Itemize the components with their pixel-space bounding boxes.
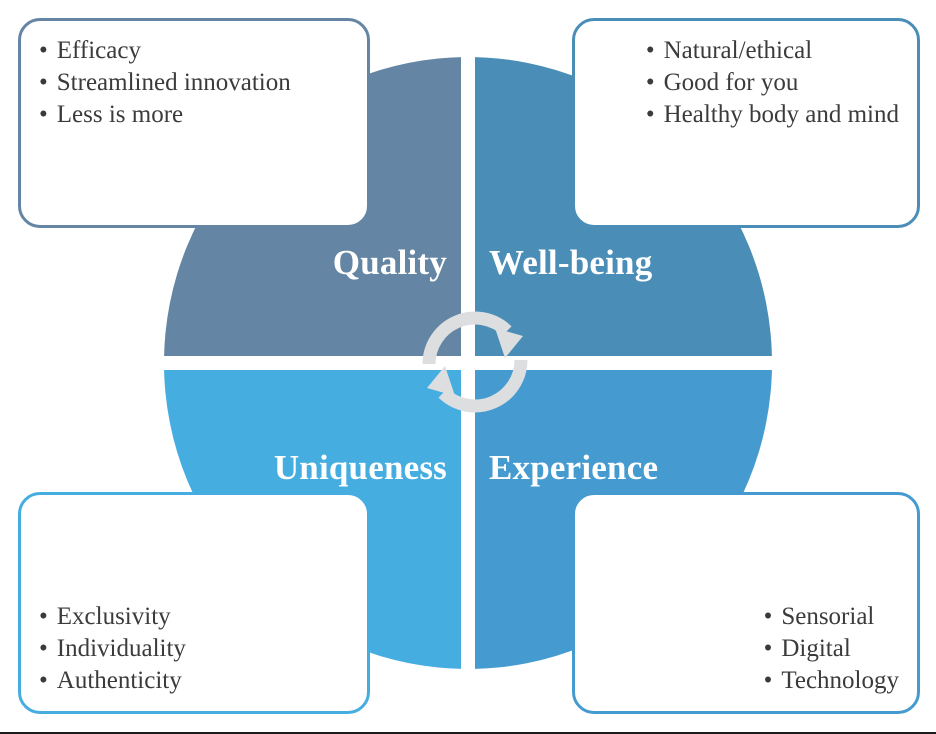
bullet-icon: • xyxy=(39,665,48,696)
quadrant-quality-label: Quality xyxy=(333,243,447,283)
list-item: • Efficacy xyxy=(39,35,349,66)
callout-experience-item-1: Digital xyxy=(781,633,850,664)
callout-uniqueness-item-2: Authenticity xyxy=(57,665,182,696)
callout-quality-item-1: Streamlined innovation xyxy=(57,67,291,98)
quadrant-experience-label: Experience xyxy=(489,448,658,488)
callout-uniqueness-list: • Exclusivity • Individuality • Authenti… xyxy=(39,601,349,697)
list-item: • Authenticity xyxy=(39,665,349,696)
callout-well-being-item-2: Healthy body and mind xyxy=(664,99,899,130)
callout-quality[interactable]: • Efficacy • Streamlined innovation • Le… xyxy=(18,18,370,228)
bullet-icon: • xyxy=(39,601,48,632)
list-item: • Technology xyxy=(764,665,899,696)
callout-experience-item-2: Technology xyxy=(781,665,899,696)
quadrant-well-being-label: Well-being xyxy=(489,243,652,283)
bullet-icon: • xyxy=(764,601,773,632)
list-item: • Streamlined innovation xyxy=(39,67,349,98)
callout-well-being-item-1: Good for you xyxy=(664,67,799,98)
list-item: • Less is more xyxy=(39,99,349,130)
callout-uniqueness-item-1: Individuality xyxy=(57,633,186,664)
list-item: • Exclusivity xyxy=(39,601,349,632)
bullet-icon: • xyxy=(646,35,655,66)
callout-quality-item-2: Less is more xyxy=(57,99,183,130)
bullet-icon: • xyxy=(764,665,773,696)
bullet-icon: • xyxy=(39,633,48,664)
bullet-icon: • xyxy=(646,67,655,98)
callout-experience[interactable]: • Sensorial • Digital • Technology xyxy=(572,492,920,714)
list-item: • Natural/ethical xyxy=(646,35,899,66)
bullet-icon: • xyxy=(646,99,655,130)
list-item: • Healthy body and mind xyxy=(646,99,899,130)
callout-well-being[interactable]: • Natural/ethical • Good for you • Healt… xyxy=(572,18,920,228)
callout-well-being-item-0: Natural/ethical xyxy=(664,35,813,66)
callout-quality-item-0: Efficacy xyxy=(57,35,141,66)
list-item: • Good for you xyxy=(646,67,899,98)
list-item: • Digital xyxy=(764,633,899,664)
bullet-icon: • xyxy=(39,67,48,98)
callout-well-being-list: • Natural/ethical • Good for you • Healt… xyxy=(646,35,899,131)
quadrant-uniqueness-label: Uniqueness xyxy=(274,448,447,488)
callout-experience-item-0: Sensorial xyxy=(781,601,874,632)
callout-quality-list: • Efficacy • Streamlined innovation • Le… xyxy=(39,35,349,131)
bullet-icon: • xyxy=(764,633,773,664)
bullet-icon: • xyxy=(39,35,48,66)
callout-uniqueness-item-0: Exclusivity xyxy=(57,601,171,632)
callout-uniqueness[interactable]: • Exclusivity • Individuality • Authenti… xyxy=(18,492,370,714)
bullet-icon: • xyxy=(39,99,48,130)
diagram-canvas: Quality Well-being Uniqueness Experience xyxy=(0,0,936,734)
callout-experience-list: • Sensorial • Digital • Technology xyxy=(764,601,899,697)
list-item: • Individuality xyxy=(39,633,349,664)
list-item: • Sensorial xyxy=(764,601,899,632)
